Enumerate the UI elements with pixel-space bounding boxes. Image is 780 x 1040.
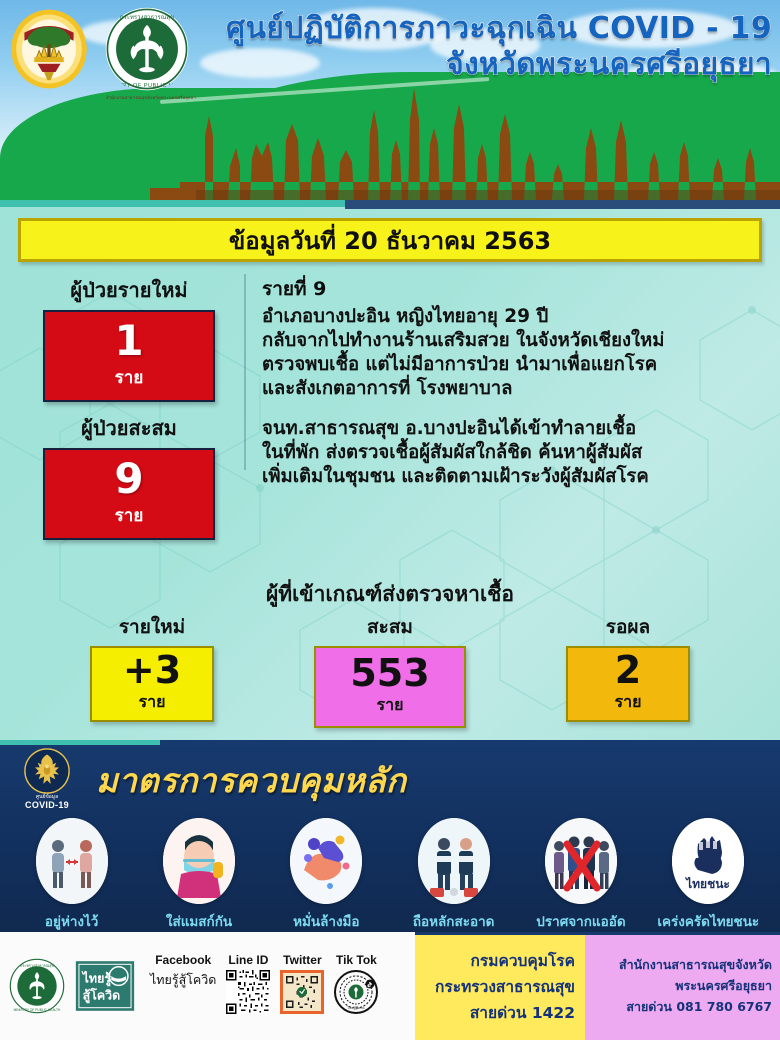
testing-new-value: +3 [123, 653, 181, 689]
case-detail-line: กลับจากไปทำงานร้านเสริมสวย ในจังหวัดเชีย… [262, 329, 768, 353]
thairoo-line-1: ไทยรู้ [81, 970, 112, 986]
measures-icon-row: อยู่ห่างไว้ ใส่แมสก์กัน [0, 818, 780, 932]
case-detail-line: จนท.สาธารณสุข อ.บางปะอินได้เข้าทำลายเชื้… [262, 417, 768, 441]
social-facebook[interactable]: Facebook ไทยรู้สู้โควิด [150, 953, 216, 990]
social-links-row: Facebook ไทยรู้สู้โควิด Line ID [150, 953, 378, 1019]
cases-column: ผู้ป่วยรายใหม่ 1 ราย ผู้ป่วยสะสม 9 ราย [0, 270, 240, 570]
svg-text:กระทรวงสาธารณสุข: กระทรวงสาธารณสุข [120, 14, 174, 21]
dcd-line-2: กระทรวงสาธารณสุข [435, 974, 575, 999]
covid-report-poster: กระทรวงสาธารณสุข MINISTRY OF PUBLIC HEAL… [0, 0, 780, 1040]
testing-section-title: ผู้ที่เข้าเกณฑ์ส่งตรวจหาเชื้อ [0, 578, 780, 611]
social-title: Twitter [280, 953, 324, 967]
report-body: ข้อมูลวันที่ 20 ธันวาคม 2563 ผู้ป่วยรายใ… [0, 200, 780, 740]
social-title: Line ID [226, 953, 270, 967]
avoid-crowds-icon [545, 818, 617, 904]
moph-subtitle: สำนักงานสาธารณสุขจังหวัดพระนครศรีอยุธยา [96, 95, 206, 101]
testing-cumulative-label: สะสม [314, 612, 466, 642]
cumulative-cases-unit: ราย [115, 502, 144, 529]
poster-footer: กระทรวงสาธารณสุข MINISTRY OF PUBLIC HEAL… [0, 932, 780, 1040]
teal-accent-bar [0, 740, 160, 745]
tiktok-caption: ไทยรู้สู้โควิด [347, 1005, 365, 1010]
testing-pending-value: 2 [615, 653, 641, 689]
cumulative-cases-box: 9 ราย [43, 448, 215, 540]
cumulative-cases-label: ผู้ป่วยสะสม [31, 412, 227, 444]
wash-hands-icon [290, 818, 362, 904]
measure-item-social-distancing: อยู่ห่างไว้ [13, 818, 131, 932]
testing-pending-label: รอผล [566, 612, 690, 642]
testing-cumulative-unit: ราย [377, 693, 404, 718]
measure-label: เคร่งครัดไทยชนะ [649, 910, 767, 932]
social-distancing-icon [36, 818, 108, 904]
footer-social-area: กระทรวงสาธารณสุข MINISTRY OF PUBLIC HEAL… [0, 932, 415, 1040]
provincial-line-2: พระนครศรีอยุธยา [675, 976, 772, 996]
measure-item-wear-mask: ใส่แมสก์กัน [140, 818, 258, 932]
ministry-of-public-health-seal-icon: กระทรวงสาธารณสุข MINISTRY OF PUBLIC HEAL… [104, 6, 190, 92]
svg-text:MINISTRY OF PUBLIC HEALTH: MINISTRY OF PUBLIC HEALTH [14, 1008, 61, 1012]
case-detail-paragraph-1: อำเภอบางปะอิน หญิงไทยอายุ 29 ปี กลับจากไ… [262, 305, 768, 401]
measure-item-wash-hands: หมั่นล้างมือ [267, 818, 385, 932]
control-measures-section: ศูนย์ข้อมูล COVID-19 มาตรการควบคุมหลัก [0, 740, 780, 932]
testing-stats-row: รายใหม่ +3 ราย สะสม 553 ราย รอผล 2 ราย [0, 612, 780, 728]
testing-cell-cumulative: สะสม 553 ราย [314, 612, 466, 728]
testing-cumulative-value: 553 [350, 656, 429, 692]
social-title: Tik Tok [334, 953, 378, 967]
case-detail-line: อำเภอบางปะอิน หญิงไทยอายุ 29 ปี [262, 305, 768, 329]
measure-label: อยู่ห่างไว้ [13, 910, 131, 932]
social-tiktok[interactable]: Tik Tok ไทยรู้สู้โควิด [334, 953, 378, 1019]
case-detail-paragraph-2: จนท.สาธารณสุข อ.บางปะอินได้เข้าทำลายเชื้… [262, 417, 768, 489]
provincial-line-1: สำนักงานสาธารณสุขจังหวัด [619, 955, 772, 975]
poster-header: กระทรวงสาธารณสุข MINISTRY OF PUBLIC HEAL… [0, 0, 780, 200]
testing-cumulative-box: 553 ราย [314, 646, 466, 728]
cleanliness-icon [418, 818, 490, 904]
social-twitter[interactable]: Twitter [280, 953, 324, 1019]
testing-new-label: รายใหม่ [90, 612, 214, 642]
paragraph-spacer [262, 401, 768, 417]
measure-item-avoid-crowds: ปราศจากแออัด [522, 818, 640, 932]
thairoo-line-2: สู้โควิด [83, 988, 121, 1004]
ministry-of-public-health-logo-icon: กระทรวงสาธารณสุข MINISTRY OF PUBLIC HEAL… [8, 957, 66, 1015]
case-detail-line: เพิ่มเติมในชุมชน และติดตามเฝ้าระวังผู้สั… [262, 465, 768, 489]
case-detail-line: ในที่พัก ส่งตรวจเชื้อผู้สัมผัสใกล้ชิด ค้… [262, 441, 768, 465]
testing-new-box: +3 ราย [90, 646, 214, 722]
measure-label: ปราศจากแออัด [522, 910, 640, 932]
measure-label: ถือหลักสะอาด [395, 910, 513, 932]
garuda-caption: ศูนย์ข้อมูล COVID-19 [8, 794, 86, 812]
case-detail-line: ตรวจพบเชื้อ แต่ไม่มีอาการป่วย นำมาเพื่อแ… [262, 353, 768, 377]
report-date-text: ข้อมูลวันที่ 20 ธันวาคม 2563 [229, 221, 551, 260]
dcd-line-1: กรมควบคุมโรค [471, 948, 575, 973]
new-cases-unit: ราย [115, 364, 144, 391]
footer-provincial-block: สำนักงานสาธารณสุขจังหวัด พระนครศรีอยุธยา… [585, 932, 780, 1040]
wear-mask-icon [163, 818, 235, 904]
cumulative-cases-value: 9 [114, 459, 143, 499]
stats-and-detail-row: ผู้ป่วยรายใหม่ 1 ราย ผู้ป่วยสะสม 9 ราย ร… [0, 270, 780, 570]
social-subtitle: ไทยรู้สู้โควิด [150, 970, 216, 990]
provincial-seal-ayutthaya-icon [8, 8, 90, 90]
footer-dcd-block: กรมควบคุมโรค กระทรวงสาธารณสุข สายด่วน 14… [415, 932, 585, 1040]
new-cases-value: 1 [114, 321, 143, 361]
testing-new-unit: ราย [139, 690, 166, 715]
measure-item-cleanliness: ถือหลักสะอาด [395, 818, 513, 932]
thairoo-soo-covid-logo-icon: ไทยรู้ สู้โควิด [74, 955, 136, 1017]
case-detail-line: และสังเกตอาการที่ โรงพยาบาล [262, 377, 768, 401]
case-detail-heading: รายที่ 9 [262, 274, 768, 304]
testing-cell-new: รายใหม่ +3 ราย [90, 612, 214, 722]
social-line-id[interactable]: Line ID [226, 953, 270, 1019]
new-cases-box: 1 ราย [43, 310, 215, 402]
qr-code-line-icon [226, 970, 270, 1014]
date-banner: ข้อมูลวันที่ 20 ธันวาคม 2563 [18, 218, 762, 262]
measure-label: ใส่แมสก์กัน [140, 910, 258, 932]
dcd-hotline: สายด่วน 1422 [470, 1000, 575, 1025]
page-title-line-1: ศูนย์ปฏิบัติการภาวะฉุกเฉิน COVID - 19 [226, 12, 772, 46]
social-title: Facebook [150, 953, 216, 967]
qr-code-tiktok-icon: ไทยรู้สู้โควิด [334, 970, 378, 1014]
measure-item-thaichana: ไทยชนะ เคร่งครัดไทยชนะ [649, 818, 767, 932]
testing-cell-pending: รอผล 2 ราย [566, 612, 690, 722]
garuda-emblem-icon [24, 748, 70, 794]
thaichana-icon: ไทยชนะ [672, 818, 744, 904]
provincial-hotline: สายด่วน 081 780 6767 [626, 997, 772, 1017]
garuda-caption-line-2: COVID-19 [8, 800, 86, 811]
testing-pending-unit: ราย [615, 690, 642, 715]
page-title-line-2: จังหวัดพระนครศรีอยุธยา [226, 48, 772, 82]
ayutthaya-temple-skyline [0, 70, 780, 200]
measure-label: หมั่นล้างมือ [267, 910, 385, 932]
testing-pending-box: 2 ราย [566, 646, 690, 722]
thaichana-label: ไทยชนะ [684, 876, 730, 891]
control-measures-title: มาตรการควบคุมหลัก [96, 754, 407, 807]
case-detail-column: รายที่ 9 อำเภอบางปะอิน หญิงไทยอายุ 29 ปี… [240, 270, 780, 570]
new-cases-label: ผู้ป่วยรายใหม่ [31, 274, 227, 306]
qr-code-twitter-icon [280, 970, 324, 1014]
header-title-block: ศูนย์ปฏิบัติการภาวะฉุกเฉิน COVID - 19 จั… [226, 12, 772, 81]
